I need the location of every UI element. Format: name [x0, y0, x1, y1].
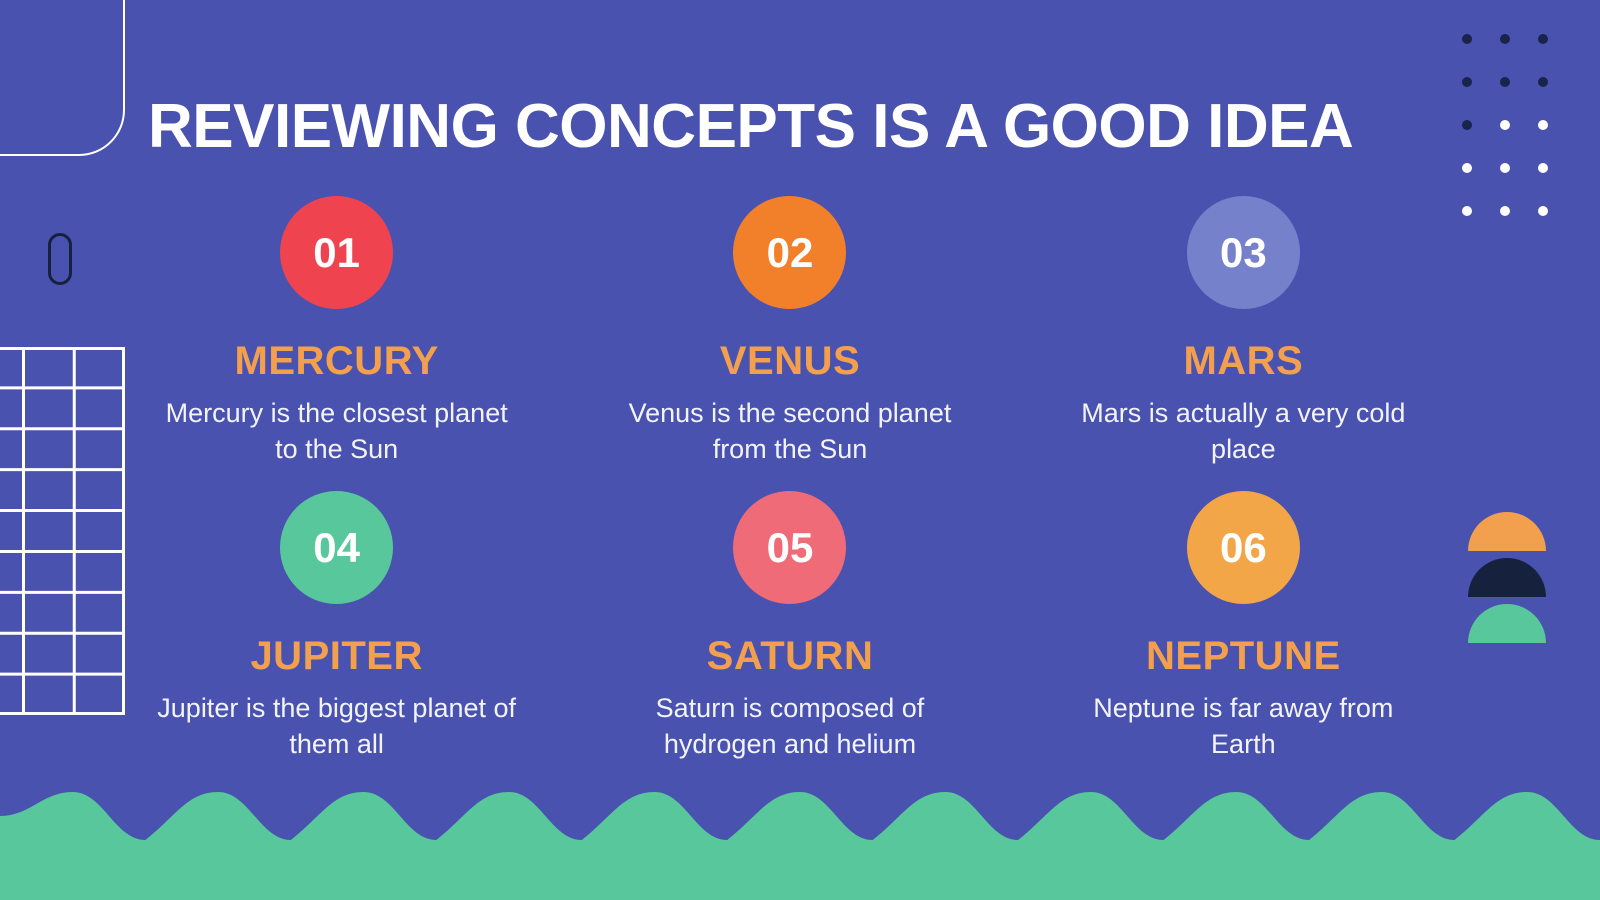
item-number-badge[interactable]: 05 [733, 491, 846, 604]
dome-shape-navy [1468, 558, 1546, 597]
item-title: NEPTUNE [1146, 636, 1341, 676]
dot-light [1500, 206, 1510, 216]
item-title: SATURN [707, 636, 874, 676]
dot-dark [1538, 77, 1548, 87]
dot-light [1538, 120, 1548, 130]
item-description: Mercury is the closest planet to the Sun [157, 395, 517, 468]
concept-item-venus[interactable]: 02VENUSVenus is the second planet from t… [583, 196, 996, 491]
dot-light [1538, 206, 1548, 216]
dot-light [1538, 163, 1548, 173]
item-number-badge[interactable]: 02 [733, 196, 846, 309]
dot-light [1500, 163, 1510, 173]
dot-light [1462, 163, 1472, 173]
dot-dark [1462, 77, 1472, 87]
dot-matrix-decoration [1462, 34, 1578, 218]
item-title: JUPITER [250, 636, 422, 676]
concept-item-mars[interactable]: 03MARSMars is actually a very cold place [1037, 196, 1450, 491]
concept-item-mercury[interactable]: 01MERCURYMercury is the closest planet t… [130, 196, 543, 491]
page-title: REVIEWING CONCEPTS IS A GOOD IDEA [148, 96, 1448, 158]
corner-frame-decoration [0, 0, 125, 156]
concept-item-jupiter[interactable]: 04JUPITERJupiter is the biggest planet o… [130, 491, 543, 786]
item-description: Venus is the second planet from the Sun [610, 395, 970, 468]
item-description: Jupiter is the biggest planet of them al… [157, 690, 517, 763]
dot-light [1462, 206, 1472, 216]
dot-dark [1500, 77, 1510, 87]
item-title: MARS [1183, 341, 1303, 381]
grid-pattern-decoration [0, 347, 125, 715]
concept-items-grid: 01MERCURYMercury is the closest planet t… [130, 196, 1450, 786]
dome-shape-orange [1468, 512, 1546, 551]
dot-dark [1500, 34, 1510, 44]
item-number-badge[interactable]: 03 [1187, 196, 1300, 309]
item-number-badge[interactable]: 06 [1187, 491, 1300, 604]
item-description: Neptune is far away from Earth [1063, 690, 1423, 763]
concept-item-saturn[interactable]: 05SATURNSaturn is composed of hydrogen a… [583, 491, 996, 786]
item-number-badge[interactable]: 04 [280, 491, 393, 604]
dome-shape-green [1468, 604, 1546, 643]
item-title: MERCURY [235, 341, 439, 381]
dot-dark [1462, 120, 1472, 130]
slide-canvas: REVIEWING CONCEPTS IS A GOOD IDEA 01MERC… [0, 0, 1600, 900]
dome-stack-decoration [1468, 512, 1546, 644]
item-description: Mars is actually a very cold place [1063, 395, 1423, 468]
item-number-badge[interactable]: 01 [280, 196, 393, 309]
item-description: Saturn is composed of hydrogen and heliu… [610, 690, 970, 763]
item-title: VENUS [720, 341, 860, 381]
capsule-outline-decoration [48, 233, 72, 285]
concept-item-neptune[interactable]: 06NEPTUNENeptune is far away from Earth [1037, 491, 1450, 786]
dot-dark [1462, 34, 1472, 44]
bottom-wave-decoration [0, 770, 1600, 900]
dot-light [1500, 120, 1510, 130]
dot-dark [1538, 34, 1548, 44]
